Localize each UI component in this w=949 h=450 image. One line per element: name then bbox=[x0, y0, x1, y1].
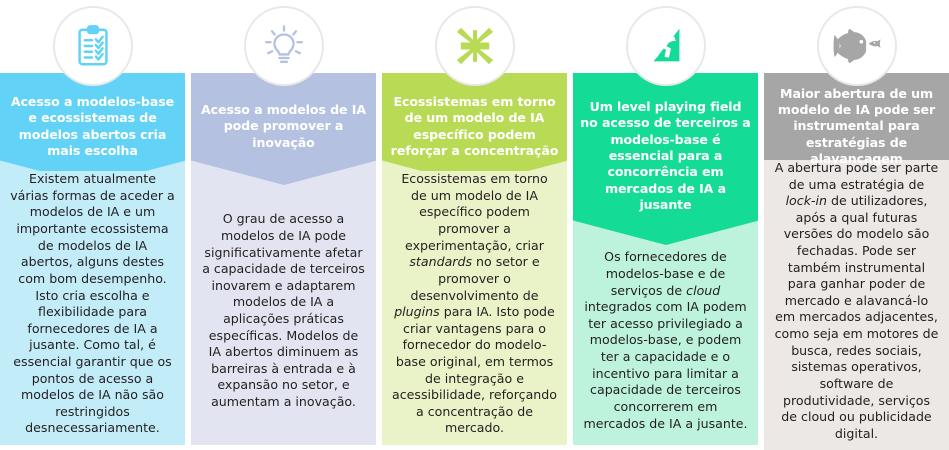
column-header-band: Acesso a modelos-base e ecossistemas de … bbox=[0, 73, 185, 160]
column-header-text: Ecossistemas em torno de um modelo de IA… bbox=[389, 94, 560, 159]
column-header-band: Maior abertura de um modelo de IA pode s… bbox=[764, 73, 949, 160]
column-body: Existem atualmente várias formas de aced… bbox=[0, 171, 185, 445]
header-notch bbox=[573, 220, 758, 245]
column-header-band: Acesso a modelos de IA pode promover a i… bbox=[191, 73, 376, 160]
clipboard-checklist-icon bbox=[53, 6, 133, 86]
header-notch bbox=[382, 160, 567, 171]
column-body-text: Os fornecedores de modelos-base e de ser… bbox=[583, 249, 748, 432]
column-header-text: Um level playing field no acesso de terc… bbox=[580, 99, 751, 214]
infographic-column-ecossistemas-concentracao: Ecossistemas em torno de um modelo de IA… bbox=[382, 0, 567, 445]
infographic-column-abertura-alavancagem: Maior abertura de um modelo de IA pode s… bbox=[764, 0, 949, 445]
infographic-column-level-playing-field: Um level playing field no acesso de terc… bbox=[573, 0, 758, 445]
column-body: Os fornecedores de modelos-base e de ser… bbox=[573, 245, 758, 445]
column-header-band: Um level playing field no acesso de terc… bbox=[573, 73, 758, 220]
column-body-text: A abertura pode ser parte de uma estraté… bbox=[774, 160, 939, 442]
header-notch bbox=[0, 160, 185, 171]
column-body: A abertura pode ser parte de uma estraté… bbox=[764, 160, 949, 450]
column-body-text: Ecossistemas em torno de um modelo de IA… bbox=[392, 171, 557, 437]
column-body: O grau de acesso a modelos de IA pode si… bbox=[191, 185, 376, 445]
column-body-text: O grau de acesso a modelos de IA pode si… bbox=[201, 211, 366, 410]
column-body: Ecossistemas em torno de um modelo de IA… bbox=[382, 171, 567, 445]
column-header-text: Acesso a modelos de IA pode promover a i… bbox=[198, 102, 369, 151]
infographic-column-acesso-modelos-base: Acesso a modelos-base e ecossistemas de … bbox=[0, 0, 185, 445]
lightbulb-idea-icon bbox=[244, 6, 324, 86]
header-notch bbox=[191, 160, 376, 185]
infographic-board: Acesso a modelos-base e ecossistemas de … bbox=[0, 0, 949, 445]
column-header-text: Acesso a modelos-base e ecossistemas de … bbox=[7, 94, 178, 159]
converging-arrows-icon bbox=[435, 6, 515, 86]
climbing-person-icon bbox=[626, 6, 706, 86]
big-fish-eating-small-fish-icon bbox=[817, 6, 897, 86]
column-body-text: Existem atualmente várias formas de aced… bbox=[10, 171, 175, 437]
infographic-column-acesso-promove-inovacao: Acesso a modelos de IA pode promover a i… bbox=[191, 0, 376, 445]
column-header-text: Maior abertura de um modelo de IA pode s… bbox=[771, 86, 942, 168]
column-header-band: Ecossistemas em torno de um modelo de IA… bbox=[382, 73, 567, 160]
